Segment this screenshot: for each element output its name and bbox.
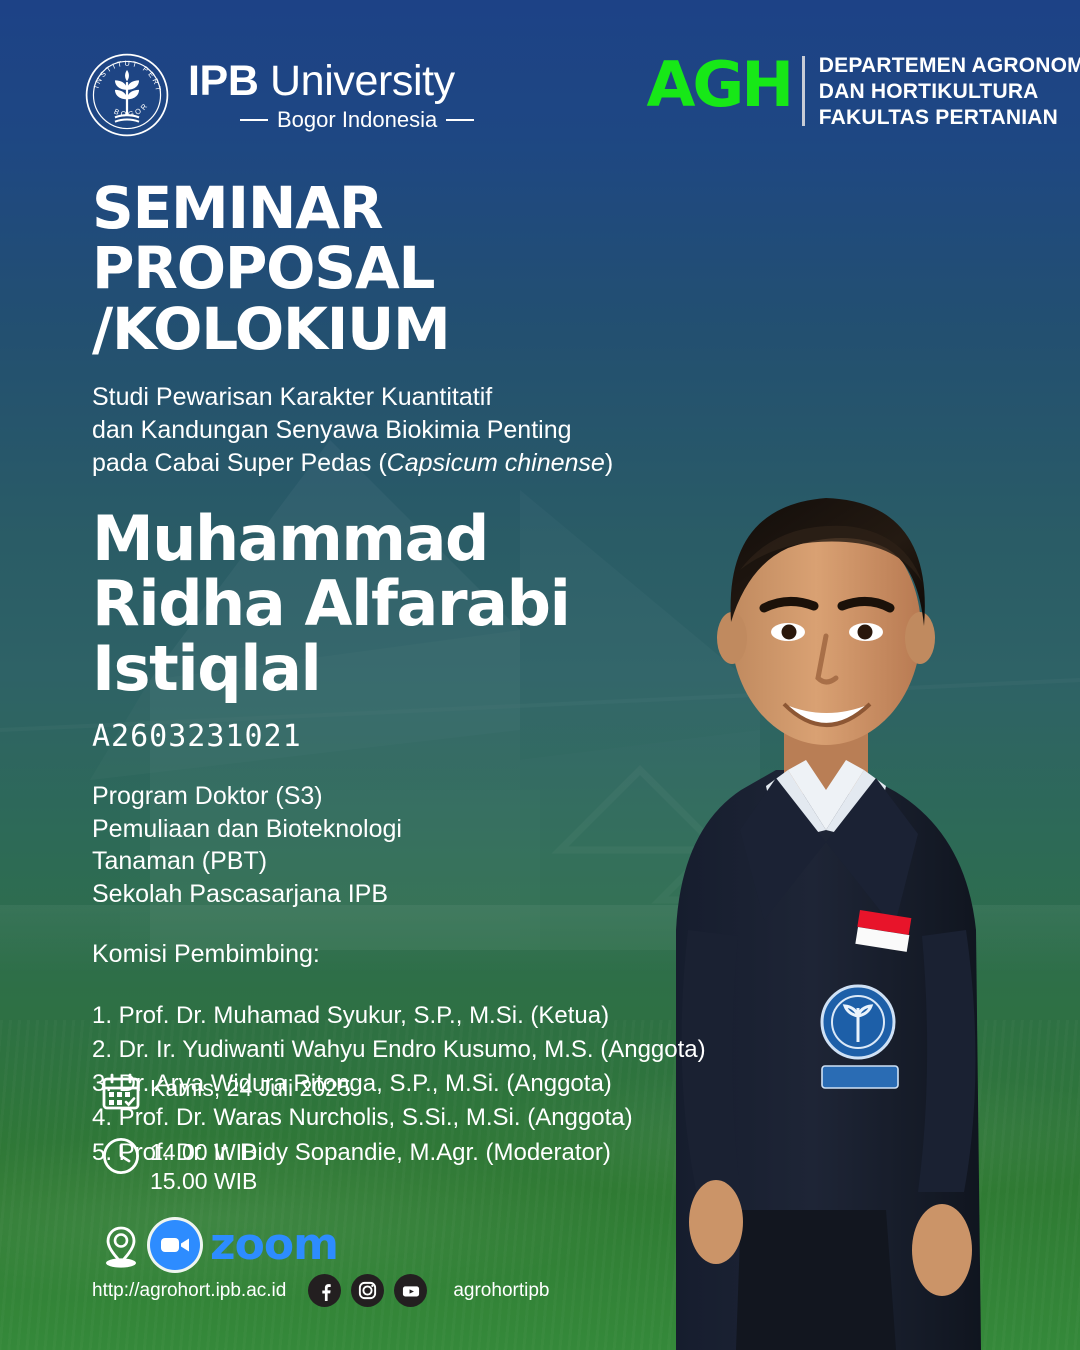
tagline-dash-left (240, 119, 268, 121)
subtitle-line-3: pada Cabai Super Pedas (Capsicum chinens… (92, 447, 732, 480)
ipb-tagline: Bogor Indonesia (277, 109, 437, 131)
list-item: 1. Prof. Dr. Muhamad Syukur, S.P., M.Si.… (92, 999, 732, 1033)
agh-department-logo: AGH DEPARTEMEN AGRONOMI DAN HORTIKULTURA… (648, 54, 1080, 130)
poster-content: SEMINAR PROPOSAL /KOLOKIUM Studi Pewaris… (92, 178, 732, 1170)
poster-canvas: INSTITUT PERTANIAN BOGOR IPB University … (0, 0, 1080, 1350)
event-location-row: zoom (92, 1220, 351, 1270)
instagram-icon[interactable] (351, 1274, 384, 1307)
ipb-university-name: IPB University (188, 60, 474, 103)
program-line-2: Pemuliaan dan Bioteknologi (92, 813, 732, 846)
page-title: SEMINAR PROPOSAL /KOLOKIUM (92, 178, 732, 359)
social-handle: agrohortipb (453, 1280, 549, 1302)
event-details: Kamis, 24 Juli 2025 14.00 WIB 15.00 WIB (92, 1070, 351, 1270)
clock-icon (92, 1134, 150, 1176)
agh-department-lines: DEPARTEMEN AGRONOMI DAN HORTIKULTURA FAK… (819, 54, 1080, 130)
ipb-seal-icon: INSTITUT PERTANIAN BOGOR (84, 52, 170, 138)
location-pin-icon (92, 1222, 150, 1268)
tagline-dash-right (446, 119, 474, 121)
event-date-text: Kamis, 24 Juli 2025 (150, 1070, 351, 1103)
program-line-4: Sekolah Pascasarjana IPB (92, 878, 732, 911)
agh-line-2: DAN HORTIKULTURA (819, 80, 1080, 104)
presenter-name: Muhammad Ridha Alfarabi Istiqlal (92, 506, 732, 701)
research-subtitle: Studi Pewarisan Karakter Kuantitatif dan… (92, 381, 732, 480)
svg-text:BOGOR: BOGOR (113, 100, 151, 119)
social-links (308, 1274, 427, 1307)
committee-label: Komisi Pembimbing: (92, 940, 732, 969)
poster-footer: http://agrohort.ipb.ac.id (92, 1274, 549, 1307)
zoom-platform-logo[interactable]: zoom (150, 1220, 338, 1270)
website-link[interactable]: http://agrohort.ipb.ac.id (92, 1280, 286, 1302)
subtitle-species-pre: pada Cabai Super Pedas ( (92, 449, 387, 477)
event-time-start: 14.00 WIB (150, 1138, 257, 1167)
title-line-1: SEMINAR PROPOSAL (92, 174, 434, 302)
list-item: 2. Dr. Ir. Yudiwanti Wahyu Endro Kusumo,… (92, 1033, 732, 1067)
name-line-3: Istiqlal (92, 636, 732, 701)
subtitle-species-post: ) (605, 449, 613, 477)
program-line-3: Tanaman (PBT) (92, 845, 732, 878)
study-program: Program Doktor (S3) Pemuliaan dan Biotek… (92, 780, 732, 910)
species-name: Capsicum chinense (387, 449, 605, 477)
agh-line-1: DEPARTEMEN AGRONOMI (819, 54, 1080, 78)
event-time-text: 14.00 WIB 15.00 WIB (150, 1134, 257, 1196)
student-id: A2603231021 (92, 719, 732, 754)
calendar-icon (92, 1070, 150, 1112)
poster-header: INSTITUT PERTANIAN BOGOR IPB University … (0, 48, 1080, 144)
ipb-university-word: University (258, 57, 454, 105)
name-line-2: Ridha Alfarabi (92, 571, 732, 636)
ipb-tagline-row: Bogor Indonesia (188, 109, 474, 131)
ipb-abbrev: IPB (188, 57, 258, 105)
program-line-1: Program Doktor (S3) (92, 780, 732, 813)
zoom-camera-icon (150, 1220, 200, 1270)
event-time-end: 15.00 WIB (150, 1167, 257, 1196)
facebook-icon[interactable] (308, 1274, 341, 1307)
agh-logo-text: AGH (646, 54, 803, 130)
youtube-icon[interactable] (394, 1274, 427, 1307)
ipb-university-logo: INSTITUT PERTANIAN BOGOR IPB University … (84, 52, 474, 138)
event-date-row: Kamis, 24 Juli 2025 (92, 1070, 351, 1112)
subtitle-line-2: dan Kandungan Senyawa Biokimia Penting (92, 414, 732, 447)
subtitle-line-1: Studi Pewarisan Karakter Kuantitatif (92, 381, 732, 414)
zoom-wordmark: zoom (210, 1223, 338, 1267)
event-time-row: 14.00 WIB 15.00 WIB (92, 1134, 351, 1196)
ipb-wordmark: IPB University Bogor Indonesia (188, 60, 474, 131)
agh-line-3: FAKULTAS PERTANIAN (819, 106, 1080, 130)
title-line-2: /KOLOKIUM (92, 299, 732, 359)
name-line-1: Muhammad (92, 506, 732, 571)
